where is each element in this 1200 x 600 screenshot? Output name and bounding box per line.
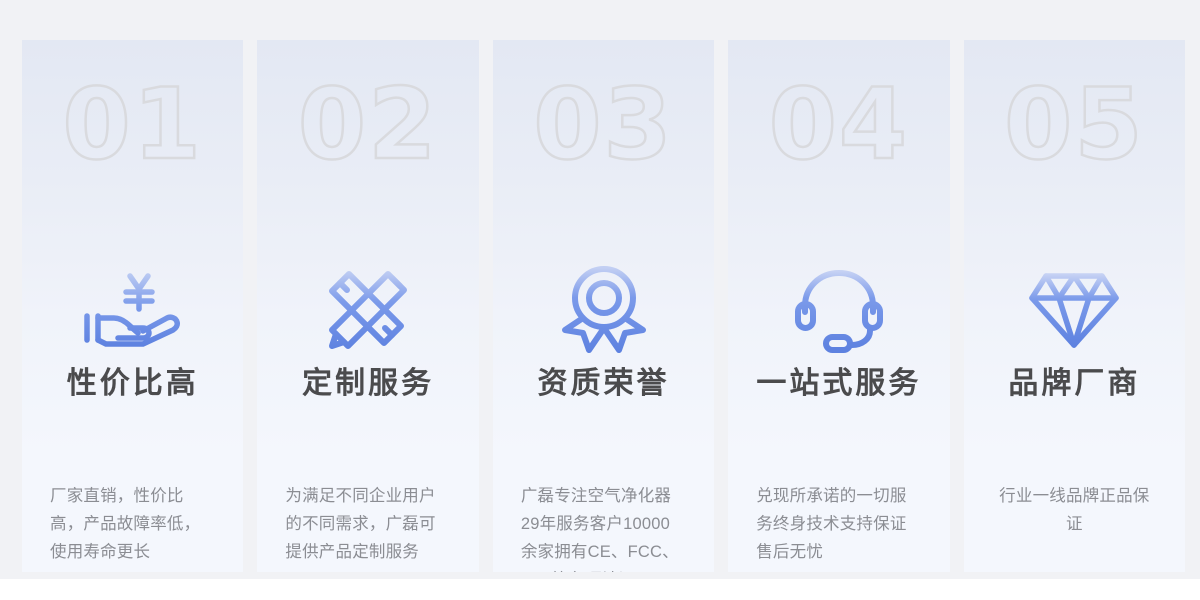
card-number-03: 03 (493, 76, 714, 174)
card-desc-05: 行业一线品牌正品保证 (964, 482, 1185, 538)
card-desc-02: 为满足不同企业用户的不同需求，广磊可提供产品定制服务 (257, 482, 478, 566)
card-desc-01: 厂家直销，性价比高，产品故障率低，使用寿命更长 (22, 482, 243, 566)
feature-card-03[interactable]: 03 (493, 40, 714, 572)
card-desc-03: 广磊专注空气净化器29年服务客户10000余家拥有CE、FCC、ETL等各项认证 (493, 482, 714, 572)
diamond-icon (964, 262, 1185, 358)
card-number-02: 02 (257, 76, 478, 174)
pen-ruler-icon (257, 262, 478, 358)
card-title-03: 资质荣誉 (493, 364, 714, 403)
card-title-04: 一站式服务 (728, 364, 949, 403)
feature-highlights-banner: 01 (0, 0, 1200, 600)
card-desc-04: 兑现所承诺的一切服务终身技术支持保证售后无忧 (728, 482, 949, 566)
card-title-05: 品牌厂商 (964, 364, 1185, 403)
feature-card-02[interactable]: 02 (257, 40, 478, 572)
card-number-05: 05 (964, 76, 1185, 174)
card-title-02: 定制服务 (257, 364, 478, 403)
card-number-01: 01 (22, 76, 243, 174)
feature-card-01[interactable]: 01 (22, 40, 243, 572)
card-title-01: 性价比高 (22, 364, 243, 403)
headset-icon (728, 262, 949, 358)
feature-card-04[interactable]: 04 (728, 40, 949, 572)
feature-card-list: 01 (22, 40, 1185, 572)
hand-holding-yuan-icon (22, 262, 243, 358)
award-medal-icon (493, 262, 714, 358)
feature-card-05[interactable]: 05 (964, 40, 1185, 572)
card-number-04: 04 (728, 76, 949, 174)
